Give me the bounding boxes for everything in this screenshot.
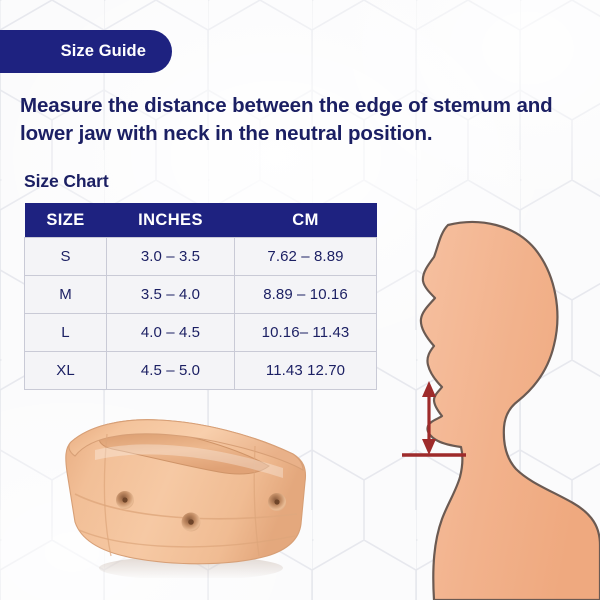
size-guide-page: Size Guide Measure the distance between … <box>0 0 600 600</box>
cell-size: L <box>25 314 107 352</box>
table-row: XL 4.5 – 5.0 11.43 12.70 <box>25 352 377 390</box>
cell-inches: 3.5 – 4.0 <box>107 276 235 314</box>
table-row: L 4.0 – 4.5 10.16– 11.43 <box>25 314 377 352</box>
cell-size: S <box>25 238 107 276</box>
table-header-row: SIZE INCHES CM <box>25 203 377 238</box>
size-guide-badge: Size Guide <box>0 30 172 73</box>
head-profile-silhouette <box>330 215 600 600</box>
instruction-text: Measure the distance between the edge of… <box>20 92 572 148</box>
column-header-size: SIZE <box>25 203 107 238</box>
size-chart-heading: Size Chart <box>24 171 109 192</box>
cell-inches: 4.0 – 4.5 <box>107 314 235 352</box>
table-row: S 3.0 – 3.5 7.62 – 8.89 <box>25 238 377 276</box>
collar-illustration <box>55 398 317 578</box>
cell-inches: 3.0 – 3.5 <box>107 238 235 276</box>
size-guide-badge-label: Size Guide <box>61 42 146 61</box>
cervical-collar-photo <box>55 398 317 578</box>
size-chart-table: SIZE INCHES CM S 3.0 – 3.5 7.62 – 8.89 M… <box>24 203 377 390</box>
column-header-inches: INCHES <box>107 203 235 238</box>
measurement-illustration <box>330 215 600 600</box>
cell-size: M <box>25 276 107 314</box>
cell-inches: 4.5 – 5.0 <box>107 352 235 390</box>
cell-size: XL <box>25 352 107 390</box>
table-row: M 3.5 – 4.0 8.89 – 10.16 <box>25 276 377 314</box>
